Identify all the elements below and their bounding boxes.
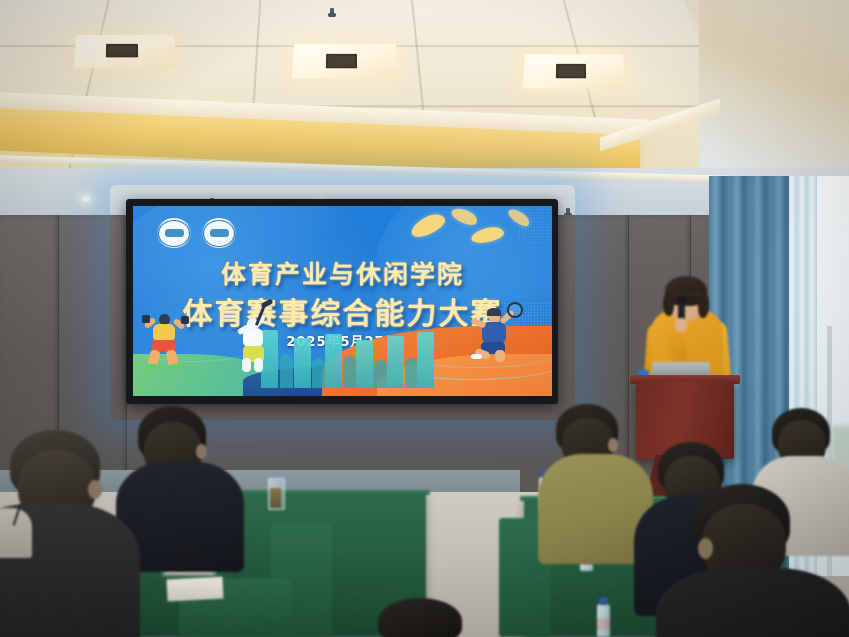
ceiling-light-2 <box>292 44 398 78</box>
screen-title-line1: 体育产业与休闲学院 <box>133 255 552 291</box>
golfer-athlete-illustration <box>225 306 277 374</box>
ceiling-light-1 <box>74 35 176 67</box>
ceiling <box>0 0 849 175</box>
notepad <box>166 577 223 602</box>
conference-photo: 体育产业与休闲学院 体育赛事综合能力大赛 2025年5月27日 <box>0 0 849 637</box>
badminton-athlete-illustration <box>469 302 523 362</box>
table-edge <box>232 490 430 495</box>
downlight-1 <box>82 196 90 202</box>
ceiling-sprinkler-head <box>330 8 334 17</box>
led-screen: 体育产业与休闲学院 体育赛事综合能力大赛 2025年5月27日 <box>133 206 552 396</box>
speaker-hand <box>675 318 687 332</box>
ceiling-light-3 <box>523 54 625 88</box>
water-bottle <box>597 604 610 637</box>
ceiling-right-edge <box>699 0 849 180</box>
arch-building-silhouette <box>261 326 431 388</box>
institution-emblem-right-icon <box>201 218 237 248</box>
institution-emblem-left-icon <box>156 218 192 248</box>
weightlifter-athlete-illustration <box>143 314 191 372</box>
tea-glass <box>268 478 285 510</box>
